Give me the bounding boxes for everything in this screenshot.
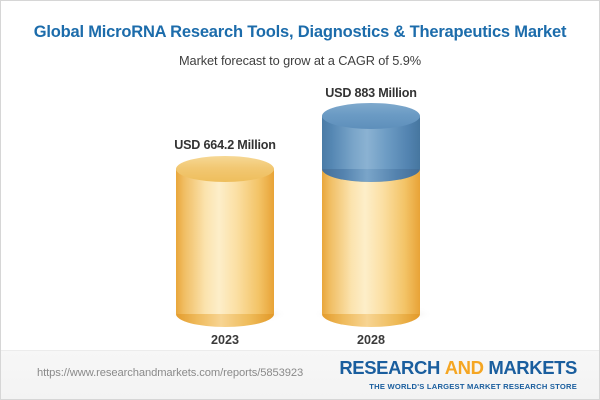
brand-logo[interactable]: RESEARCH AND MARKETS THE WORLD'S LARGEST…: [339, 359, 577, 391]
x-axis-label-2028: 2028: [301, 333, 441, 347]
chart-plot-area: USD 664.2 Million 2023 USD 883 Million: [1, 86, 599, 346]
brand-tagline: THE WORLD'S LARGEST MARKET RESEARCH STOR…: [339, 378, 577, 391]
bar-value-label-2028: USD 883 Million: [301, 86, 441, 100]
cylinder-segment-growth-2028: [322, 116, 420, 169]
brand-logo-wordmark: RESEARCH AND MARKETS: [339, 359, 577, 378]
brand-word-research: RESEARCH: [339, 357, 440, 378]
brand-word-markets: MARKETS: [488, 357, 577, 378]
bar-value-label-2023: USD 664.2 Million: [155, 138, 295, 152]
bar-group-2023: USD 664.2 Million 2023: [155, 86, 295, 346]
cylinder-2023: [176, 169, 274, 314]
chart-header: Global MicroRNA Research Tools, Diagnost…: [1, 1, 599, 68]
cylinder-body-2023: [176, 169, 274, 314]
footer-bar: https://www.researchandmarkets.com/repor…: [1, 350, 599, 399]
cylinder-body-base-2028: [322, 169, 420, 314]
page-title: Global MicroRNA Research Tools, Diagnost…: [1, 23, 599, 43]
chart-subtitle: Market forecast to grow at a CAGR of 5.9…: [1, 43, 599, 68]
x-axis-label-2023: 2023: [155, 333, 295, 347]
cylinder-top-cap-2023: [176, 156, 274, 182]
report-url-link[interactable]: https://www.researchandmarkets.com/repor…: [37, 367, 303, 379]
brand-word-and: AND: [445, 357, 484, 378]
cylinder-top-cap-2028: [322, 103, 420, 129]
cylinder-segment-base-2028: [322, 169, 420, 314]
infographic-card: Global MicroRNA Research Tools, Diagnost…: [0, 0, 600, 400]
cylinder-2028: [322, 116, 420, 314]
bar-group-2028: USD 883 Million 2028: [301, 86, 441, 346]
cylinder-segment-base-2023: [176, 169, 274, 314]
